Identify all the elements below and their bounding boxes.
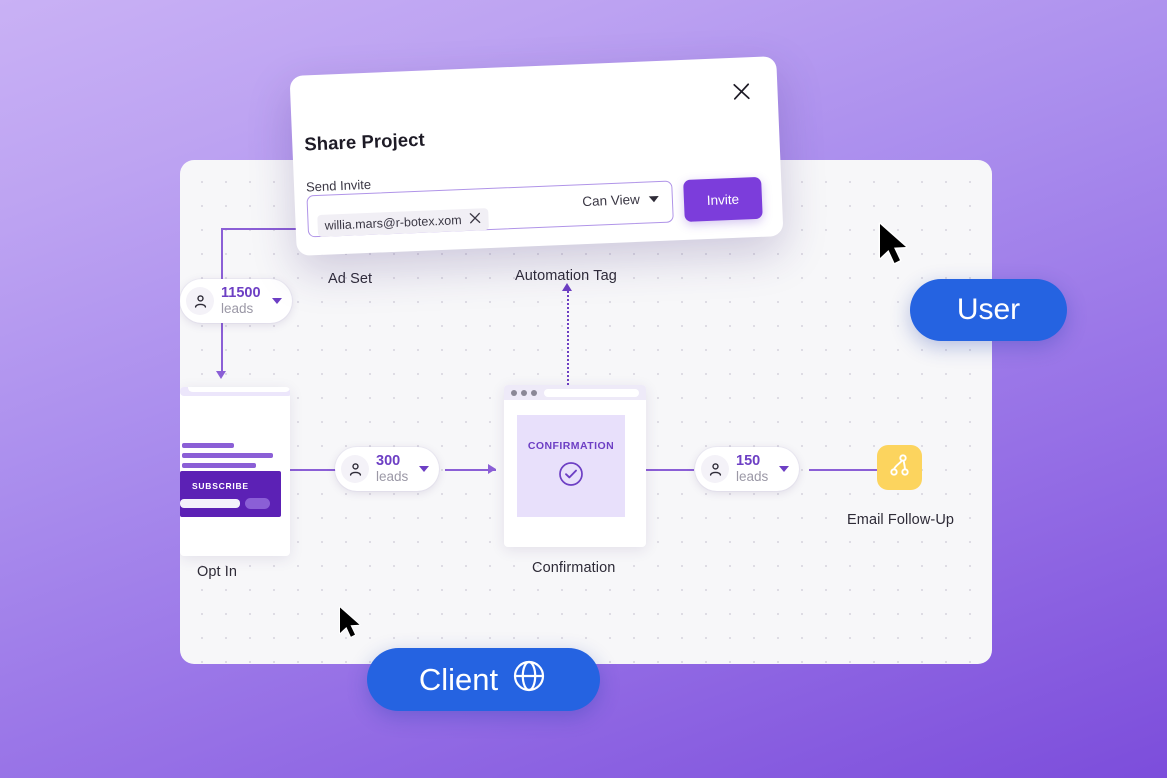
optin-text-line	[182, 463, 256, 468]
leads-unit: leads	[221, 302, 261, 316]
connector-leads150-email	[809, 469, 879, 471]
node-label-confirmation: Confirmation	[532, 560, 615, 576]
optin-text-line	[182, 443, 234, 448]
leads-values: 11500 leads	[221, 286, 261, 316]
arrow-up-automation	[562, 283, 572, 291]
confirmation-text: CONFIRMATION	[528, 440, 614, 452]
leads-unit: leads	[376, 470, 408, 484]
person-icon	[186, 287, 214, 315]
send-invite-label: Send Invite	[306, 177, 372, 195]
node-opt-in[interactable]: SUBSCRIBE	[180, 387, 290, 556]
connector-leads-optin	[221, 323, 223, 374]
badge-client-label: Client	[419, 662, 498, 698]
chevron-down-icon[interactable]	[272, 298, 282, 304]
connector-optin-leads300	[290, 469, 336, 471]
cursor-user	[876, 222, 914, 273]
dialog-title: Share Project	[304, 129, 425, 156]
optin-submit-button[interactable]	[245, 498, 270, 509]
close-icon[interactable]	[468, 211, 482, 228]
share-project-dialog[interactable]: Share Project Send Invite willia.mars@r-…	[290, 56, 784, 256]
permission-select[interactable]: Can View	[582, 191, 659, 209]
badge-user[interactable]: User	[910, 279, 1067, 341]
browser-dot	[521, 390, 527, 396]
browser-dot	[531, 390, 537, 396]
leads-count: 300	[376, 454, 408, 469]
branch-icon	[886, 452, 913, 484]
node-label-automation-tag: Automation Tag	[515, 268, 617, 284]
leads-pill-150[interactable]: 150 leads	[695, 447, 799, 491]
globe-icon	[510, 657, 548, 703]
leads-values: 150 leads	[736, 454, 768, 484]
badge-user-label: User	[957, 293, 1020, 327]
email-chip[interactable]: willia.mars@r-botex.xom	[317, 208, 489, 237]
node-email-follow-up[interactable]	[877, 445, 922, 490]
chevron-down-icon[interactable]	[649, 196, 659, 202]
badge-client[interactable]: Client	[367, 648, 600, 711]
confirmation-screen: CONFIRMATION	[517, 415, 625, 517]
screenshot-stage: SUBSCRIBE Opt In Ad Set Automation Tag C…	[0, 0, 1167, 778]
connector-confirm-leads150	[646, 469, 694, 471]
browser-dot	[511, 390, 517, 396]
node-confirmation[interactable]: CONFIRMATION	[504, 385, 646, 547]
close-icon[interactable]	[729, 79, 754, 104]
permission-value: Can View	[582, 192, 640, 209]
leads-unit: leads	[736, 470, 768, 484]
invite-button[interactable]: Invite	[683, 177, 763, 222]
arrow-right-confirm	[488, 464, 496, 474]
arrow-down-optin	[216, 371, 226, 379]
subscribe-label: SUBSCRIBE	[192, 481, 249, 491]
connector-automation-tag	[567, 291, 569, 385]
confirmation-browser-bar	[504, 385, 646, 400]
leads-pill-300[interactable]: 300 leads	[335, 447, 439, 491]
leads-count: 150	[736, 454, 768, 469]
connector-adset-down	[221, 228, 223, 279]
optin-text-line	[182, 453, 273, 458]
node-label-opt-in: Opt In	[197, 564, 237, 580]
person-icon	[701, 455, 729, 483]
invite-row: willia.mars@r-botex.xom Can View Invite	[306, 176, 777, 237]
chevron-down-icon[interactable]	[419, 466, 429, 472]
leads-pill-11500[interactable]: 11500 leads	[180, 279, 292, 323]
chevron-down-icon[interactable]	[779, 466, 789, 472]
optin-email-input[interactable]	[180, 499, 240, 508]
node-label-ad-set: Ad Set	[328, 271, 372, 287]
confirmation-url-bar	[544, 389, 639, 397]
cursor-client	[337, 606, 365, 645]
optin-url-bar	[188, 387, 290, 392]
check-circle-icon	[558, 461, 584, 492]
optin-subscribe-block[interactable]: SUBSCRIBE	[180, 471, 281, 517]
email-chip-label: willia.mars@r-botex.xom	[324, 213, 461, 233]
person-icon	[341, 455, 369, 483]
leads-values: 300 leads	[376, 454, 408, 484]
leads-count: 11500	[221, 286, 261, 301]
node-label-email-follow-up: Email Follow-Up	[847, 512, 954, 528]
